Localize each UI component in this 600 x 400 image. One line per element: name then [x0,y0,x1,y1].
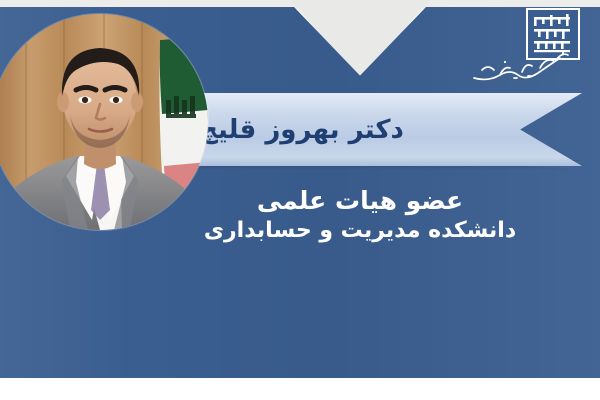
public-relations-calligraphy-icon [470,48,572,88]
university-logo [468,4,588,90]
role-department: دانشکده مدیریت و حسابداری [150,217,570,246]
public-relations-script [470,48,572,88]
role-title: عضو هیات علمی [150,186,570,217]
portrait-photo [0,14,208,230]
role-block: عضو هیات علمی دانشکده مدیریت و حسابداری [150,186,570,245]
bottom-white-margin [0,378,600,400]
portrait-illustration [0,14,208,230]
profile-poster: دکتر بهروز قلیچ لی عضو هیات علمی دانشکده… [0,0,600,400]
